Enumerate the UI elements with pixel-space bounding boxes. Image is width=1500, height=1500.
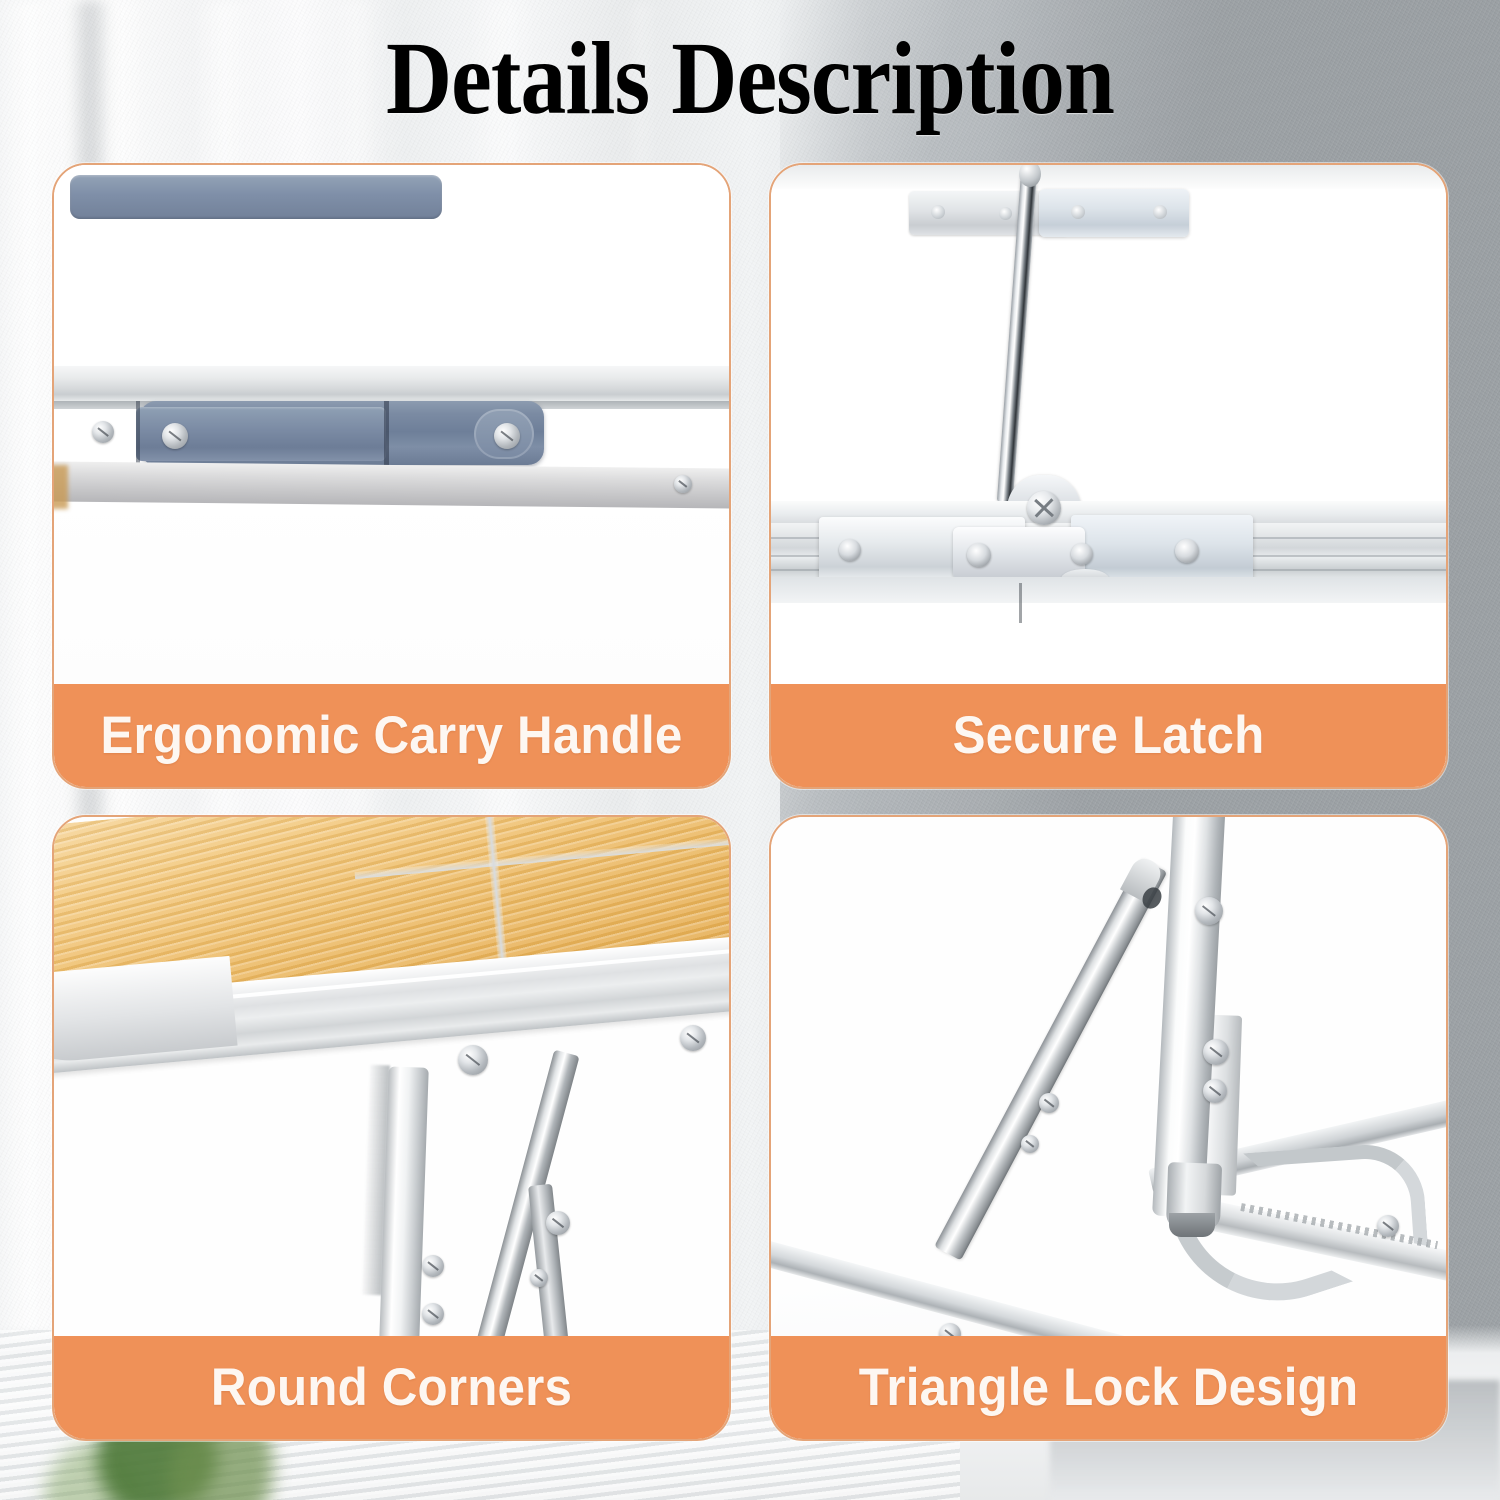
feature-card-secure-latch[interactable]: Secure Latch [769,163,1448,789]
aluminum-side-rail [54,365,729,401]
card-caption-label: Secure Latch [795,705,1423,766]
round-corners-photo [54,817,729,1340]
screw-icon [1195,897,1223,925]
screw-icon [1203,1079,1227,1103]
feature-card-round-corners[interactable]: Round Corners [52,815,731,1441]
brace-rivet-icon [1021,1135,1039,1153]
screw-icon [494,423,520,449]
rail-lower-edge [771,577,1446,603]
card-caption-bar: Ergonomic Carry Handle [54,684,729,787]
photo-backdrop [771,165,1446,189]
folding-brace-lower [528,1184,571,1340]
screw-icon [162,423,188,449]
bolt-icon [839,539,861,561]
bolt-icon [1175,539,1199,563]
rivet-hole [999,207,1012,220]
screw-icon [458,1045,488,1075]
frame-screw-icon [1377,1215,1399,1237]
screw-icon [674,475,692,493]
triangle-lock-photo [771,817,1446,1340]
adjustable-leg-tube [379,1066,429,1340]
bolt-icon [1071,543,1093,565]
leg-foot-cap [1169,1213,1215,1237]
brace-rivet-icon [530,1269,548,1287]
bolt-icon [967,543,991,567]
secure-latch-photo [771,165,1446,688]
rivet-hole [1153,205,1167,219]
card-caption-bar: Round Corners [54,1336,729,1439]
page-header: Details Description [0,26,1500,132]
handle-slot-right [384,401,389,467]
card-caption-label: Round Corners [78,1357,706,1418]
rivet-hole [1071,205,1085,219]
height-adjust-pin-icon [422,1255,444,1277]
card-caption-label: Ergonomic Carry Handle [78,705,706,766]
page-title: Details Description [90,26,1410,132]
under-rail-beam [54,461,729,508]
triangle-lock-brace [934,858,1167,1261]
screw-icon [92,421,114,443]
card-caption-bar: Triangle Lock Design [771,1336,1446,1439]
tabletop-seam [1019,583,1022,623]
rivet-hole [931,205,945,219]
brace-rivet-icon [1039,1093,1059,1113]
feature-card-ergonomic-carry-handle[interactable]: Ergonomic Carry Handle [52,163,731,789]
card-caption-bar: Secure Latch [771,684,1446,787]
screw-icon [680,1025,706,1051]
wood-edge-glimpse [54,465,68,509]
screw-icon [1203,1039,1229,1065]
carry-handle-photo [54,165,729,688]
carry-handle-inner-face [70,175,442,219]
brace-pivot-icon [546,1211,570,1235]
pivot-screw-icon [1027,491,1061,525]
handle-slot-left [136,401,140,467]
feature-card-grid: Ergonomic Carry Handle [52,163,1448,1450]
feature-card-triangle-lock-design[interactable]: Triangle Lock Design [769,815,1448,1441]
height-adjust-pin-icon [422,1303,444,1325]
card-caption-label: Triangle Lock Design [795,1357,1423,1418]
